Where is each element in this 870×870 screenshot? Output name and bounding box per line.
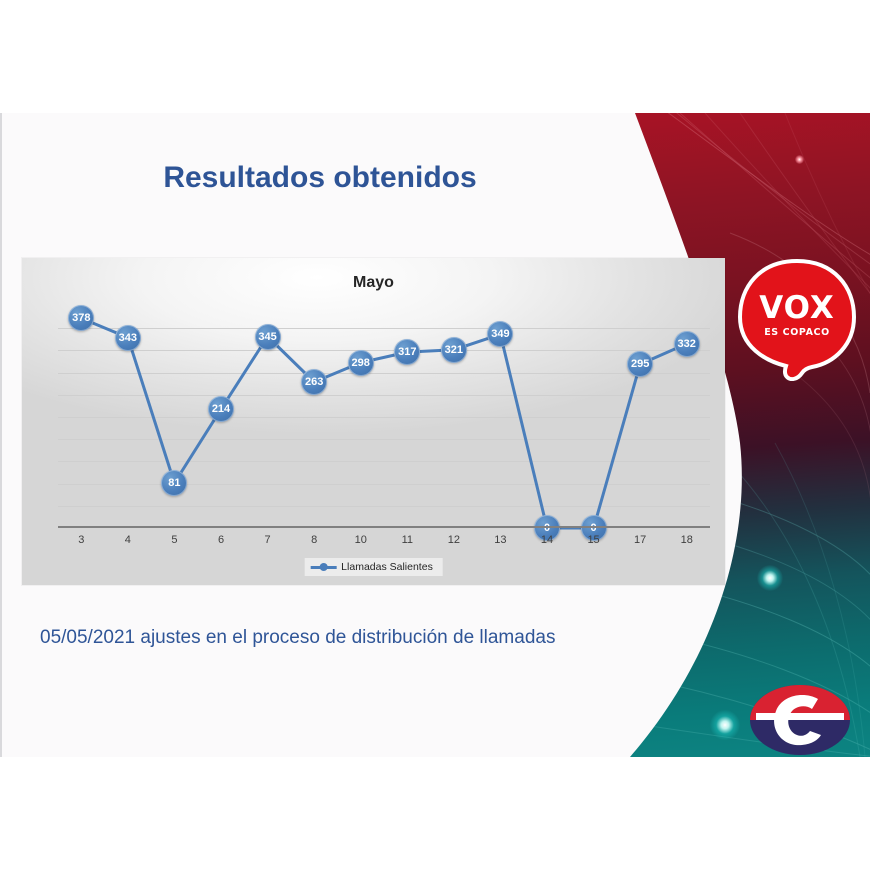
chart-x-tick-label: 15: [574, 534, 614, 546]
banner-glow-dot: [795, 155, 804, 164]
chart-x-tick-label: 8: [294, 534, 334, 546]
page-title: Resultados obtenidos: [0, 161, 640, 195]
chart-x-tick-labels: 3456781011121314151718: [58, 534, 710, 550]
legend-marker-icon: [310, 562, 336, 572]
chart-x-tick-label: 7: [248, 534, 288, 546]
chart-data-point[interactable]: 345: [255, 324, 281, 350]
chart-data-point[interactable]: 321: [441, 337, 467, 363]
chart-data-point[interactable]: 332: [674, 331, 700, 357]
chart-data-point[interactable]: 343: [115, 325, 141, 351]
screenshot-root: VOX ES COPACO COPACO Comunicación en tod…: [0, 0, 870, 870]
chart-title: Mayo: [22, 274, 725, 292]
slide-left-edge: [0, 113, 2, 757]
vox-wordmark: VOX: [738, 293, 856, 324]
chart-x-tick-label: 4: [108, 534, 148, 546]
banner-glow-dot: [757, 565, 783, 591]
chart-x-tick-label: 6: [201, 534, 241, 546]
vox-tagline: ES COPACO: [738, 327, 856, 338]
presentation-slide: VOX ES COPACO COPACO Comunicación en tod…: [0, 113, 870, 757]
legend-label: Llamadas Salientes: [341, 561, 433, 573]
chart-legend[interactable]: Llamadas Salientes: [304, 558, 443, 576]
copaco-logo: COPACO Comunicación en todo Sentido!: [735, 683, 865, 757]
chart-x-tick-label: 13: [480, 534, 520, 546]
chart-data-point[interactable]: 298: [348, 350, 374, 376]
chart-x-tick-label: 5: [154, 534, 194, 546]
chart-x-tick-label: 17: [620, 534, 660, 546]
slide-caption: 05/05/2021 ajustes en el proceso de dist…: [40, 627, 555, 649]
chart-series-line: [58, 306, 710, 528]
chart-x-tick-label: 10: [341, 534, 381, 546]
vox-logo-text: VOX ES COPACO: [738, 293, 856, 338]
copaco-mark-icon: [748, 683, 852, 757]
chart-x-tick-label: 12: [434, 534, 474, 546]
chart-plot-area: 3783438121434526329831732134900295332: [58, 306, 710, 528]
chart-x-tick-label: 3: [61, 534, 101, 546]
chart-data-point[interactable]: 263: [301, 369, 327, 395]
vox-logo: VOX ES COPACO: [738, 259, 856, 381]
chart-x-tick-label: 11: [387, 534, 427, 546]
chart-x-tick-label: 14: [527, 534, 567, 546]
chart-x-axis: [58, 526, 710, 528]
chart-object: Mayo 37834381214345263298317321349002953…: [22, 258, 725, 585]
chart-x-tick-label: 18: [667, 534, 707, 546]
